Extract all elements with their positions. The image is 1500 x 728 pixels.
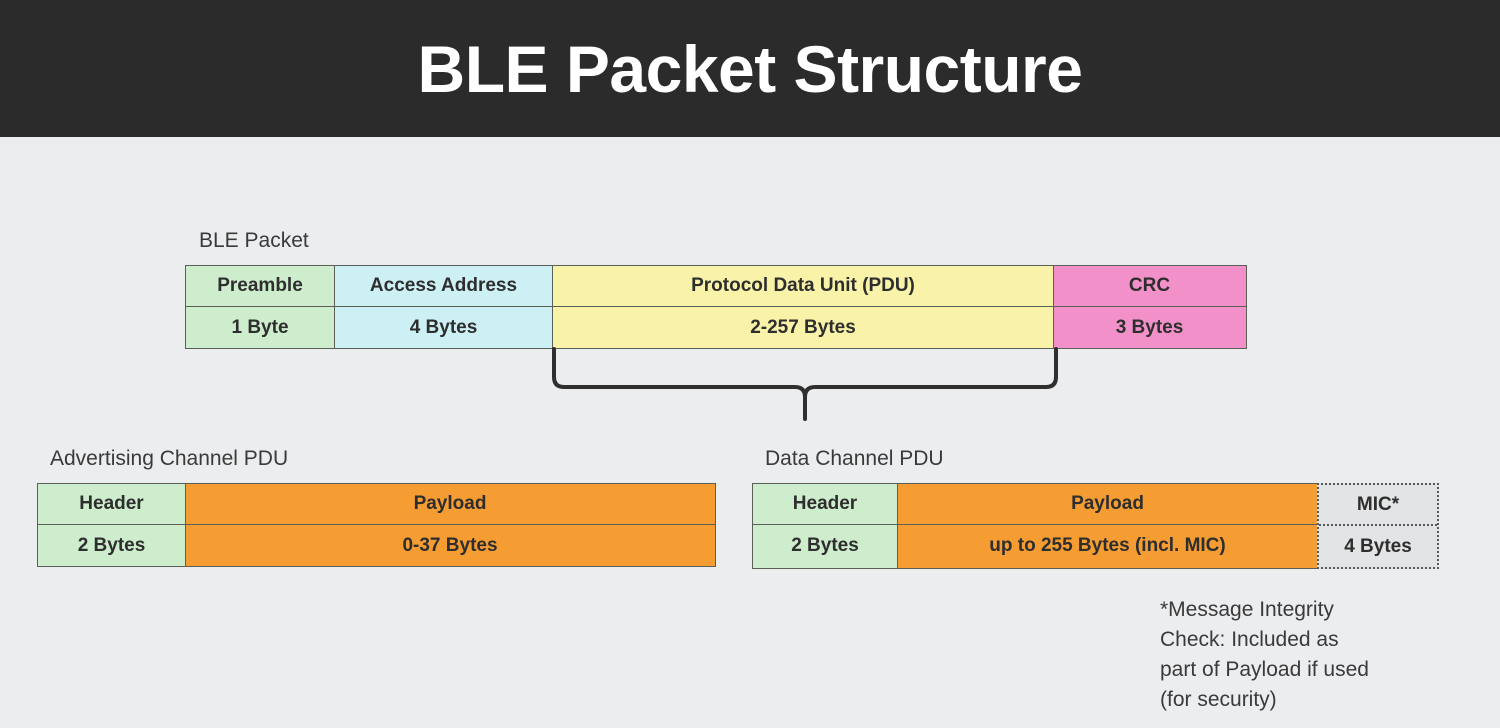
pdu-expansion-brace xyxy=(550,347,1060,422)
advertising-channel-pdu-label: Advertising Channel PDU xyxy=(50,447,288,471)
ble-field-pdu: Protocol Data Unit (PDU) 2-257 Bytes xyxy=(552,265,1054,349)
ble-field-pdu-size: 2-257 Bytes xyxy=(553,307,1053,348)
data-field-mic-name: MIC* xyxy=(1319,485,1437,526)
data-field-payload-size: up to 255 Bytes (incl. MIC) xyxy=(898,525,1318,566)
ble-field-crc-size: 3 Bytes xyxy=(1054,307,1246,348)
adv-field-payload: Payload 0-37 Bytes xyxy=(185,483,716,567)
mic-footnote: *Message Integrity Check: Included as pa… xyxy=(1160,595,1460,715)
ble-field-pdu-name: Protocol Data Unit (PDU) xyxy=(553,266,1053,307)
ble-field-access-address: Access Address 4 Bytes xyxy=(334,265,554,349)
data-field-payload-name: Payload xyxy=(898,484,1318,525)
adv-field-payload-name: Payload xyxy=(186,484,715,525)
data-channel-pdu-row: Header 2 Bytes Payload up to 255 Bytes (… xyxy=(752,483,1439,569)
data-field-mic-size: 4 Bytes xyxy=(1319,526,1437,567)
data-field-header: Header 2 Bytes xyxy=(752,483,898,569)
ble-field-preamble-name: Preamble xyxy=(186,266,334,307)
diagram-canvas: BLE Packet Preamble 1 Byte Access Addres… xyxy=(0,137,1500,728)
adv-field-payload-size: 0-37 Bytes xyxy=(186,525,715,566)
ble-field-preamble-size: 1 Byte xyxy=(186,307,334,348)
ble-field-access-address-size: 4 Bytes xyxy=(335,307,553,348)
data-field-payload: Payload up to 255 Bytes (incl. MIC) xyxy=(897,483,1319,569)
data-field-header-name: Header xyxy=(753,484,897,525)
data-channel-pdu-label: Data Channel PDU xyxy=(765,447,944,471)
ble-packet-row: Preamble 1 Byte Access Address 4 Bytes P… xyxy=(185,265,1247,349)
adv-field-header: Header 2 Bytes xyxy=(37,483,186,567)
ble-field-crc-name: CRC xyxy=(1054,266,1246,307)
ble-field-preamble: Preamble 1 Byte xyxy=(185,265,335,349)
page-title: BLE Packet Structure xyxy=(418,31,1083,107)
data-field-mic: MIC* 4 Bytes xyxy=(1317,483,1439,569)
ble-packet-label: BLE Packet xyxy=(199,229,309,253)
adv-field-header-name: Header xyxy=(38,484,185,525)
title-banner: BLE Packet Structure xyxy=(0,0,1500,137)
advertising-channel-pdu-row: Header 2 Bytes Payload 0-37 Bytes xyxy=(37,483,716,567)
ble-field-access-address-name: Access Address xyxy=(335,266,553,307)
ble-field-crc: CRC 3 Bytes xyxy=(1053,265,1247,349)
adv-field-header-size: 2 Bytes xyxy=(38,525,185,566)
data-field-header-size: 2 Bytes xyxy=(753,525,897,566)
